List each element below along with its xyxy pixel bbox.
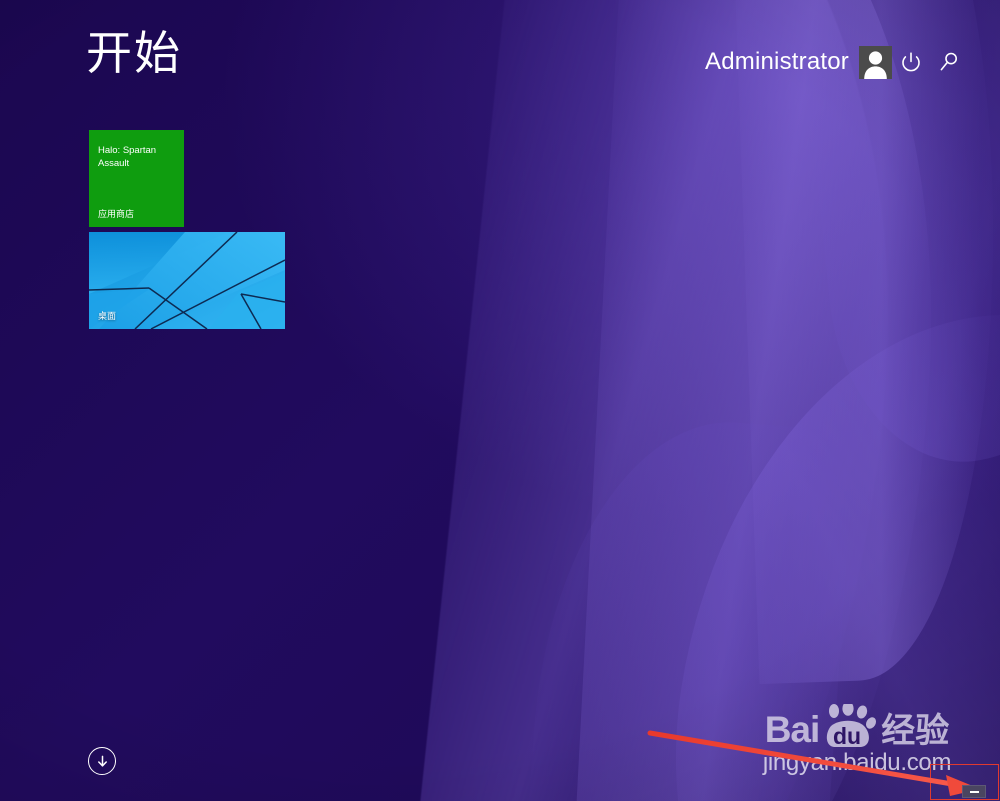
minus-icon (970, 791, 979, 793)
background-ribbon-2 (572, 0, 958, 801)
user-avatar-icon[interactable] (859, 46, 892, 79)
tile-desktop-label: 桌面 (98, 310, 116, 322)
tile-store[interactable]: Halo: Spartan Assault 应用商店 (89, 130, 184, 227)
account-name[interactable]: Administrator (705, 48, 859, 76)
tile-store-app-title: Halo: Spartan Assault (98, 144, 178, 170)
search-icon (938, 51, 960, 73)
start-screen-background (0, 0, 1000, 801)
zoom-out-button[interactable] (962, 785, 986, 798)
all-apps-button[interactable] (88, 747, 116, 775)
account-area: Administrator (705, 42, 968, 82)
background-ribbon-1 (411, 0, 950, 801)
background-ribbon-4 (638, 271, 1000, 801)
tile-desktop[interactable]: 桌面 (89, 232, 285, 329)
power-icon (900, 51, 922, 73)
background-ribbon-3 (725, 0, 1000, 684)
power-button[interactable] (892, 45, 930, 79)
arrow-down-circle-icon (95, 754, 110, 769)
background-ribbon-6 (524, 410, 855, 801)
start-screen: 开始 Administrator Halo: Spartan Assault (0, 0, 1000, 801)
tile-store-label: 应用商店 (98, 208, 134, 220)
search-button[interactable] (930, 45, 968, 79)
desktop-wallpaper-thumbnail (89, 232, 285, 329)
page-title: 开始 (86, 30, 182, 76)
background-vignette (0, 0, 1000, 801)
